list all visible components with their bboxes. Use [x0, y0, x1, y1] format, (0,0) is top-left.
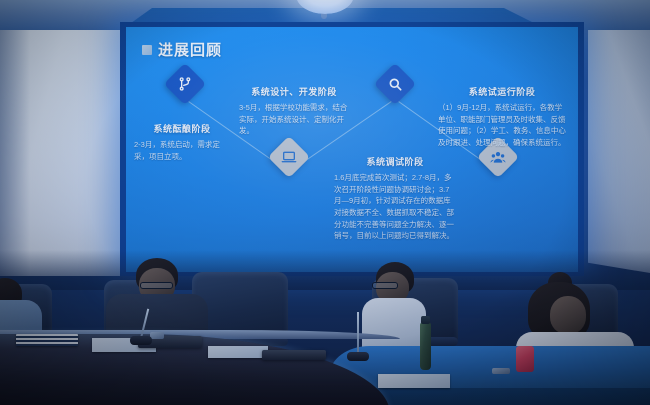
phase-heading: 系统设计、开发阶段 [239, 85, 349, 98]
microphone [357, 312, 359, 354]
search-icon [387, 76, 404, 93]
microphone-base [347, 352, 369, 361]
phase-block-1: 系统酝酿阶段 2-3月，系统启动，需求定采，项目立项。 [134, 122, 230, 162]
phase-heading: 系统调试阶段 [334, 155, 456, 168]
phase-body: 3-5月，根据学校功能需求，结合实际，开始系统设计、定制化开发。 [239, 102, 349, 137]
phase-body: 1.6月底完成首次测试；2.7-8月，多次召开阶段性问题协调研讨会；3.7月—9… [334, 172, 456, 242]
process-zigzag-diagram: 系统酝酿阶段 2-3月，系统启动，需求定采，项目立项。 系统设计、开发阶段 3-… [126, 27, 578, 272]
phase-heading: 系统试运行阶段 [438, 85, 566, 98]
left-wall-shadow [0, 0, 30, 276]
phase-body: （1）9月-12月，系统试运行，各教学单位、职能部门管理员及时收集、反馈使用问题… [438, 102, 566, 149]
phone [150, 332, 164, 339]
laptop-icon [281, 149, 297, 165]
phone [492, 368, 510, 374]
people-icon [490, 149, 507, 166]
phase-block-2: 系统设计、开发阶段 3-5月，根据学校功能需求，结合实际，开始系统设计、定制化开… [239, 85, 349, 137]
right-wall [588, 18, 650, 273]
phase-block-4: 系统试运行阶段 （1）9月-12月，系统试运行，各教学单位、职能部门管理员及时收… [438, 85, 566, 149]
paper-sheet [208, 346, 268, 358]
microphone-base [130, 336, 152, 345]
foreground-room [0, 250, 650, 405]
screenshot-scene: 进展回顾 [0, 0, 650, 405]
phase-body: 2-3月，系统启动，需求定采，项目立项。 [134, 139, 230, 162]
phase-heading: 系统酝酿阶段 [134, 122, 230, 135]
branch-icon [177, 76, 193, 92]
phase-block-3: 系统调试阶段 1.6月底完成首次测试；2.7-8月，多次召开阶段性问题协调研讨会… [334, 155, 456, 242]
book-stack [16, 334, 78, 346]
bottle-cap [421, 316, 430, 324]
pink-cup [516, 346, 534, 372]
device-on-table [262, 350, 326, 360]
water-bottle [420, 322, 431, 370]
presentation-slide: 进展回顾 [126, 27, 578, 272]
paper-sheet [378, 374, 450, 388]
